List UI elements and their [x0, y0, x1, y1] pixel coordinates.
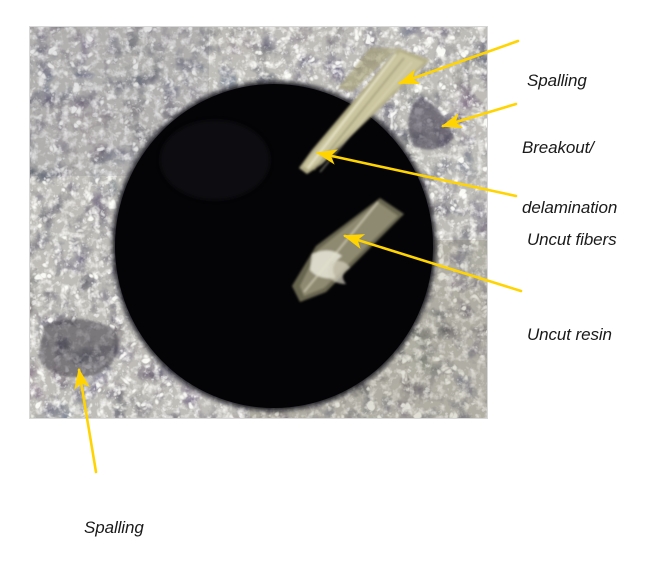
drilled-hole — [112, 81, 436, 411]
label-spalling-bottom: Spalling — [84, 478, 144, 578]
label-breakout-delamination-line-0: Breakout/ — [522, 138, 617, 158]
label-spalling-top-line-0: Spalling — [527, 71, 587, 91]
label-uncut-resin: Uncut resin — [527, 285, 612, 385]
hole-sheen — [160, 120, 270, 200]
label-spalling-bottom-line-0: Spalling — [84, 518, 144, 538]
spalling-region-bottom-left — [38, 319, 118, 377]
hole-bore — [115, 84, 433, 408]
label-uncut-fibers: Uncut fibers — [527, 190, 617, 290]
micrograph-panel — [29, 26, 500, 430]
figure-canvas: Spalling Breakout/ delamination Uncut fi… — [0, 0, 670, 511]
label-uncut-fibers-line-0: Uncut fibers — [527, 230, 617, 250]
label-uncut-resin-line-0: Uncut resin — [527, 325, 612, 345]
